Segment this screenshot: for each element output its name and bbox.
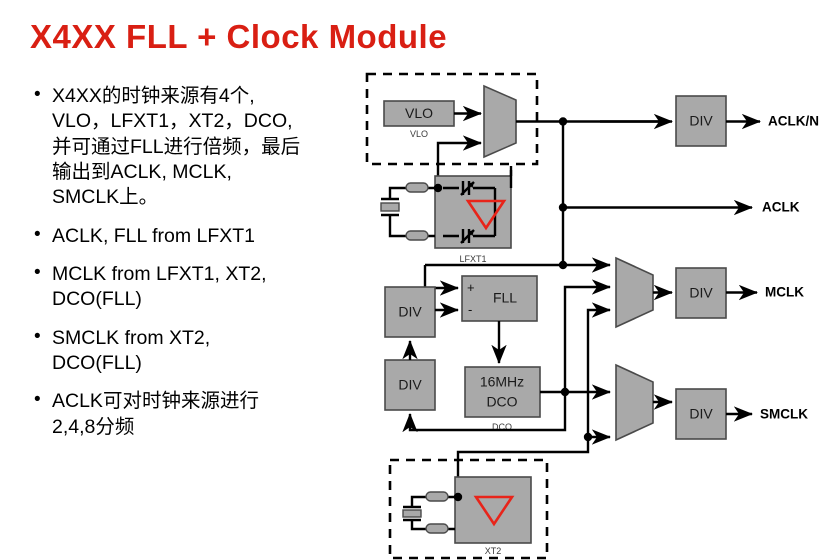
junction-dot — [434, 184, 442, 192]
wire-dco-feedback-to-div — [410, 392, 565, 430]
xt2-amplifier-triangle — [476, 497, 512, 524]
lfxt1-block — [435, 176, 511, 248]
xt2-block — [455, 477, 531, 543]
lfxt1-cap-arrow-bottom — [461, 230, 474, 243]
smclk-source-mux — [616, 365, 653, 440]
div-mclk-block — [676, 268, 726, 318]
output-label-mclk: MCLK — [765, 285, 804, 300]
output-label-smclk: SMCLK — [760, 407, 808, 422]
junction-dot — [559, 117, 567, 125]
xt2-caption: XT2 — [485, 546, 502, 556]
lfxt1-cap-bottom — [443, 212, 495, 243]
lfxt1-cap-arrowhead-top — [468, 182, 474, 188]
junction-dot — [454, 493, 462, 501]
junction-dot — [584, 433, 592, 441]
bullet-marker: • — [34, 223, 41, 248]
list-item: • ACLK可对时钟来源进行 2,4,8分频 — [30, 389, 360, 440]
vlo-caption: VLO — [410, 129, 428, 139]
lfxt1-resistor-bottom — [406, 231, 428, 240]
bullet-text: MCLK from LFXT1, XT2, DCO(FLL) — [52, 262, 360, 313]
bullet-text: X4XX的时钟来源有4个, VLO，LFXT1，XT2，DCO, 并可通过FLL… — [52, 84, 360, 211]
xt2-group-dashed-box — [390, 460, 547, 558]
dco-label-line1: 16MHz — [480, 374, 524, 390]
wire-lfxt1-to-aclkmux — [438, 143, 481, 188]
output-label-aclk: ACLK — [762, 200, 800, 215]
div-fll-upper-block — [385, 287, 435, 337]
wire-xt2-riser — [458, 437, 588, 497]
dco-caption: DCO — [492, 422, 512, 432]
lfxt1-amplifier-triangle — [468, 201, 504, 228]
bullet-text: ACLK, FLL from LFXT1 — [52, 224, 360, 249]
aclk-source-mux — [484, 86, 516, 157]
div-aclkn-label: DIV — [689, 113, 713, 129]
bullet-list: • X4XX的时钟来源有4个, VLO，LFXT1，XT2，DCO, 并可通过F… — [30, 84, 360, 453]
xt2-crystal-body — [403, 510, 421, 517]
junction-dot — [561, 388, 569, 396]
vlo-block — [384, 101, 454, 126]
page-title: X4XX FLL + Clock Module — [30, 18, 447, 56]
junction-dot — [559, 261, 567, 269]
lfxt1-cap-top — [443, 181, 495, 212]
wire-lfxt1-ext-bottom — [390, 223, 435, 236]
vlo-group-dashed-box — [367, 74, 537, 164]
bullet-marker: • — [34, 325, 41, 350]
div-aclkn-block — [676, 96, 726, 146]
bullet-text: SMCLK from XT2, DCO(FLL) — [52, 326, 360, 377]
wire-xt2-to-mclkmux — [588, 310, 610, 437]
list-item: • SMCLK from XT2, DCO(FLL) — [30, 326, 360, 377]
wire-xt2-ext-top — [412, 497, 455, 507]
lfxt1-resistor-top — [406, 183, 428, 192]
bullet-text: ACLK可对时钟来源进行 2,4,8分频 — [52, 389, 360, 440]
lfxt1-cap-arrowhead-bottom — [468, 230, 474, 236]
dco-block — [465, 367, 540, 417]
fll-block — [462, 276, 537, 321]
wire-xt2-ext-bottom — [412, 520, 455, 529]
wire-lfxt1-to-fll-plus — [425, 265, 458, 288]
bullet-marker: • — [34, 261, 41, 286]
fll-plus-label: + — [467, 280, 475, 295]
lfxt1-cap-arrow-top — [461, 182, 474, 195]
div-fll-lower-block — [385, 360, 435, 410]
div-fll-lower-label: DIV — [398, 377, 422, 393]
wire-dco-to-mclkmux — [565, 287, 610, 392]
dco-label-line2: DCO — [486, 394, 517, 410]
vlo-block-label: VLO — [405, 105, 433, 121]
lfxt1-crystal-body — [381, 203, 399, 211]
mclk-source-mux — [616, 258, 653, 327]
div-smclk-label: DIV — [689, 406, 713, 422]
slide-canvas: X4XX FLL + Clock Module • X4XX的时钟来源有4个, … — [0, 0, 821, 560]
div-smclk-block — [676, 389, 726, 439]
bullet-marker: • — [34, 388, 41, 413]
lfxt1-caption: LFXT1 — [459, 254, 486, 264]
fll-block-label: FLL — [493, 290, 517, 306]
xt2-resistor-bottom — [426, 524, 448, 533]
list-item: • ACLK, FLL from LFXT1 — [30, 224, 360, 249]
list-item: • X4XX的时钟来源有4个, VLO，LFXT1，XT2，DCO, 并可通过F… — [30, 84, 360, 211]
list-item: • MCLK from LFXT1, XT2, DCO(FLL) — [30, 262, 360, 313]
output-label-aclk-n: ACLK/N — [768, 114, 819, 129]
wire-lfxt1-ext-top — [390, 188, 435, 199]
bullet-marker: • — [34, 83, 41, 108]
xt2-resistor-top — [426, 492, 448, 501]
fll-minus-label: - — [468, 302, 472, 317]
junction-dot — [559, 203, 567, 211]
div-fll-upper-label: DIV — [398, 304, 422, 320]
div-mclk-label: DIV — [689, 285, 713, 301]
